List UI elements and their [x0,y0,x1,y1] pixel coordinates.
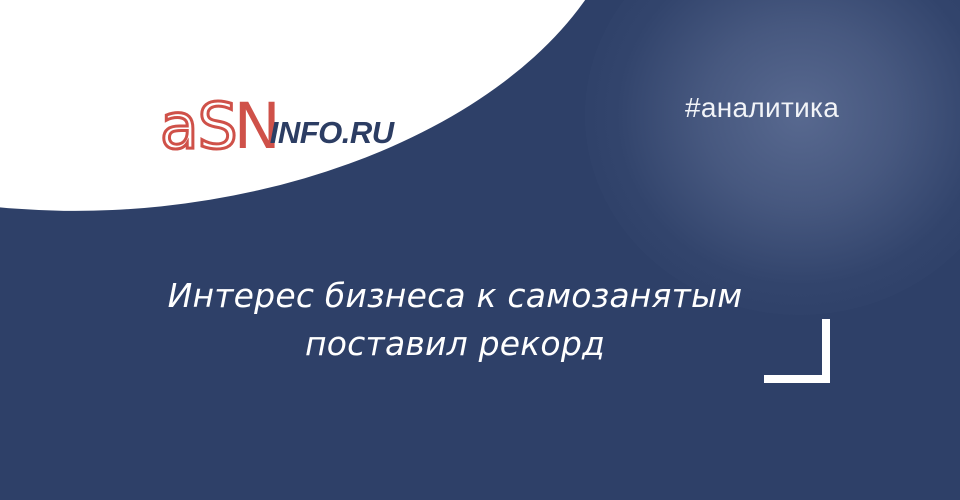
asninfo-logo[interactable]: aSNINFO.RU [160,92,394,155]
hashtag-label[interactable]: #аналитика [685,92,839,124]
headline-line-1: Интерес бизнеса к самозанятым [60,272,850,320]
logo-domain-text: INFO.RU [270,115,394,151]
logo-asn-text: aS [160,95,237,158]
headline-line-2: поставил рекорд [60,320,850,368]
headline: Интерес бизнеса к самозанятым поставил р… [60,272,850,368]
corner-bracket-horizontal-bar [764,375,830,383]
radial-glow [585,0,960,315]
corner-bracket-icon [764,319,830,383]
social-media-card: aSNINFO.RU #аналитика Интерес бизнеса к … [0,0,960,500]
corner-bracket-vertical-bar [822,319,830,383]
